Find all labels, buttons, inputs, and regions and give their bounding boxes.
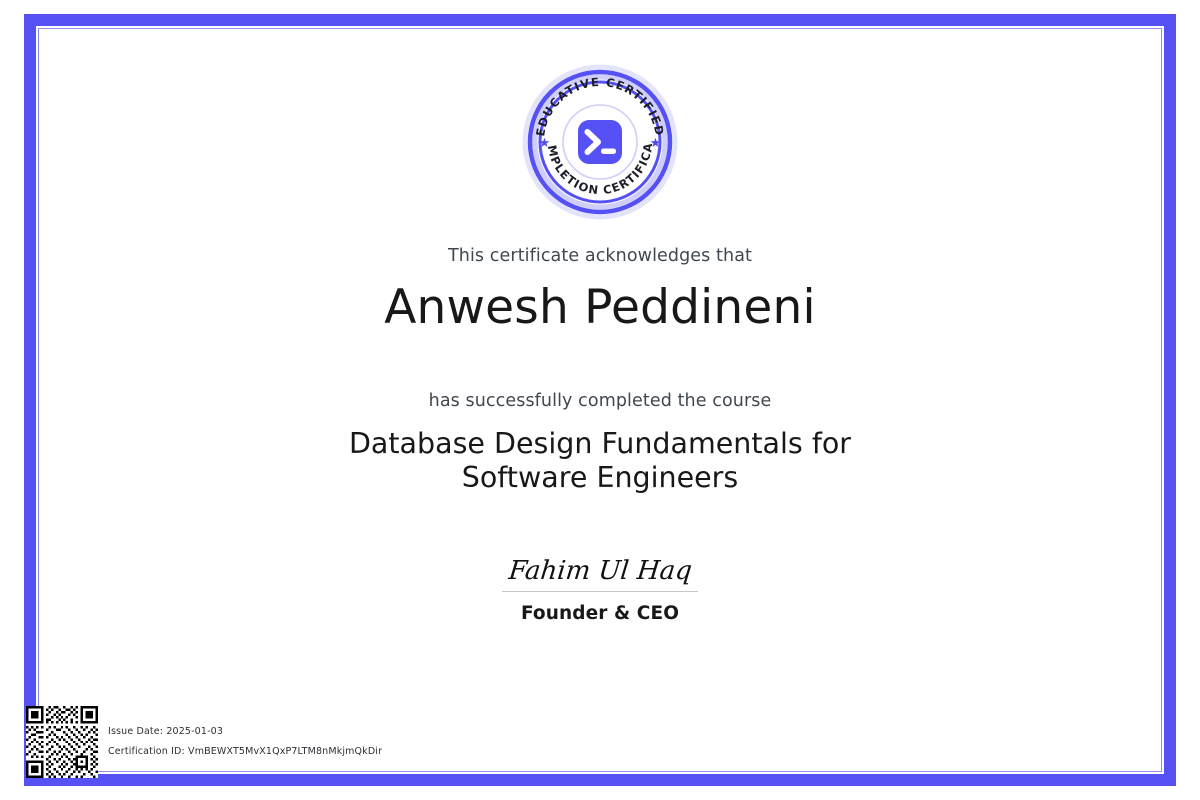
badge-left-star-icon: ★ <box>539 136 551 151</box>
issue-date-value: 2025-01-03 <box>166 726 223 737</box>
recipient-name: Anwesh Peddineni <box>384 282 816 334</box>
verification-qr-code[interactable] <box>26 706 98 778</box>
signature-divider <box>502 591 698 592</box>
badge-right-star-icon: ★ <box>650 136 662 151</box>
certificate-metadata: Issue Date: 2025-01-03 Certification ID:… <box>108 726 382 759</box>
signature-name: Fahim Ul Haq <box>500 558 699 591</box>
acknowledgement-line: This certificate acknowledges that <box>448 246 752 266</box>
certification-id-label: Certification ID: <box>108 746 185 757</box>
completion-line: has successfully completed the course <box>429 391 772 411</box>
signature-block: Fahim Ul Haq Founder & CEO <box>502 558 698 624</box>
certification-badge: EDUCATIVE CERTIFIED COMPLETION CERTIFICA… <box>522 64 678 220</box>
certificate: EDUCATIVE CERTIFIED COMPLETION CERTIFICA… <box>0 0 1200 800</box>
signature-role: Founder & CEO <box>502 603 698 624</box>
certificate-footer: Issue Date: 2025-01-03 Certification ID:… <box>26 706 382 778</box>
certification-id-value: VmBEWXT5MvX1QxP7LTM8nMkjmQkDir <box>188 746 382 757</box>
issue-date-label: Issue Date: <box>108 726 163 737</box>
terminal-prompt-icon <box>578 120 622 164</box>
certificate-content: EDUCATIVE CERTIFIED COMPLETION CERTIFICA… <box>40 30 1160 770</box>
certification-id-row: Certification ID: VmBEWXT5MvX1QxP7LTM8nM… <box>108 746 382 757</box>
course-title: Database Design Fundamentals for Softwar… <box>300 427 900 495</box>
issue-date-row: Issue Date: 2025-01-03 <box>108 726 382 737</box>
